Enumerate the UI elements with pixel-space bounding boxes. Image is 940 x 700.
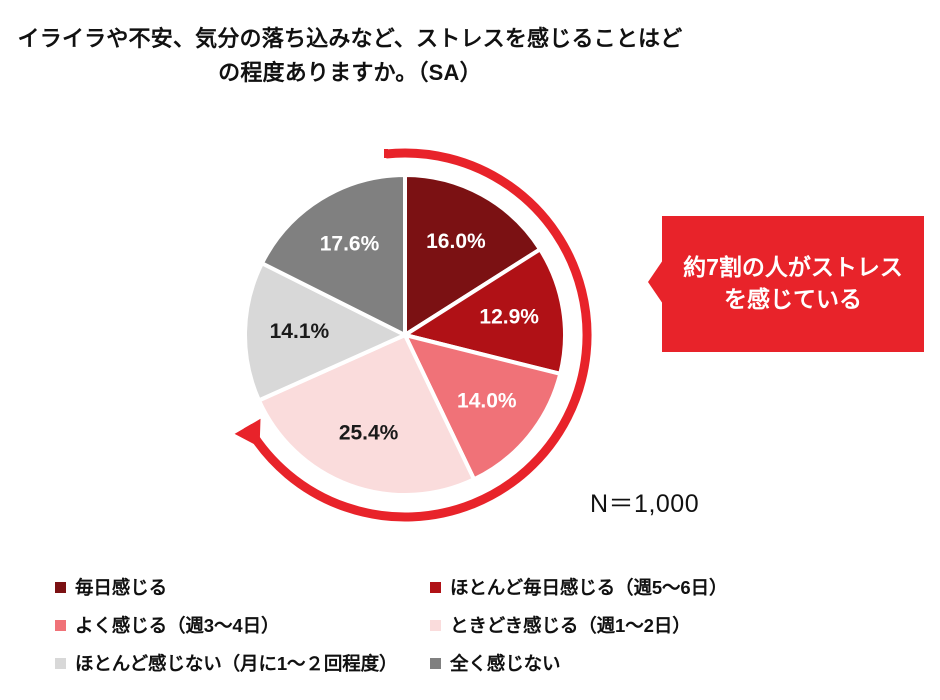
pie-slice-label: 25.4%: [339, 422, 399, 445]
callout-line-2: を感じている: [683, 284, 903, 316]
legend-item-label: 毎日感じる: [75, 574, 167, 600]
pie-slice-label: 14.1%: [270, 320, 330, 343]
page-title-line-2: の程度ありますか。（SA）: [0, 56, 700, 90]
callout-text: 約7割の人がストレス を感じている: [675, 252, 911, 315]
legend-item-label: よく感じる（週3〜4日）: [75, 612, 279, 638]
legend-item[interactable]: 全く感じない: [430, 648, 870, 678]
chart-legend: 毎日感じるほとんど毎日感じる（週5〜6日）よく感じる（週3〜4日）ときどき感じる…: [55, 572, 895, 686]
legend-item-label: ときどき感じる（週1〜2日）: [450, 612, 691, 638]
highlight-arrow-head-icon: [235, 419, 261, 447]
pie-slice-label: 14.0%: [457, 389, 517, 412]
legend-item-label: ほとんど感じない（月に1〜２回程度）: [75, 650, 397, 676]
callout-tail-icon: [648, 260, 663, 304]
legend-row: よく感じる（週3〜4日）ときどき感じる（週1〜2日）: [55, 610, 895, 648]
pie-slice-label: 17.6%: [320, 233, 380, 256]
callout-box: 約7割の人がストレス を感じている: [648, 216, 924, 352]
pie-chart-svg: 16.0%12.9%14.0%25.4%14.1%17.6%: [205, 135, 645, 535]
legend-item[interactable]: ときどき感じる（週1〜2日）: [430, 610, 870, 640]
legend-swatch-icon: [430, 620, 441, 631]
sample-size-label: N＝1,000: [590, 484, 699, 520]
legend-item[interactable]: ほとんど毎日感じる（週5〜6日）: [430, 572, 870, 602]
page-title: イライラや不安、気分の落ち込みなど、ストレスを感じることはど の程度ありますか。…: [0, 22, 700, 90]
legend-item-label: 全く感じない: [450, 650, 560, 676]
legend-swatch-icon: [430, 658, 441, 669]
legend-swatch-icon: [55, 582, 66, 593]
pie-chart: 16.0%12.9%14.0%25.4%14.1%17.6%: [205, 135, 645, 535]
legend-item[interactable]: よく感じる（週3〜4日）: [55, 610, 430, 640]
legend-item[interactable]: 毎日感じる: [55, 572, 430, 602]
page-title-line-1: イライラや不安、気分の落ち込みなど、ストレスを感じることはど: [0, 22, 700, 56]
highlight-arc-cap: [384, 149, 388, 158]
callout-body: 約7割の人がストレス を感じている: [662, 216, 924, 352]
legend-item[interactable]: ほとんど感じない（月に1〜２回程度）: [55, 648, 430, 678]
legend-row: ほとんど感じない（月に1〜２回程度）全く感じない: [55, 648, 895, 686]
legend-swatch-icon: [430, 582, 441, 593]
callout-line-1: 約7割の人がストレス: [683, 252, 903, 284]
pie-slice-label: 16.0%: [426, 230, 486, 253]
legend-swatch-icon: [55, 620, 66, 631]
pie-slice-label: 12.9%: [479, 306, 539, 329]
legend-row: 毎日感じるほとんど毎日感じる（週5〜6日）: [55, 572, 895, 610]
legend-swatch-icon: [55, 658, 66, 669]
legend-item-label: ほとんど毎日感じる（週5〜6日）: [450, 574, 727, 600]
